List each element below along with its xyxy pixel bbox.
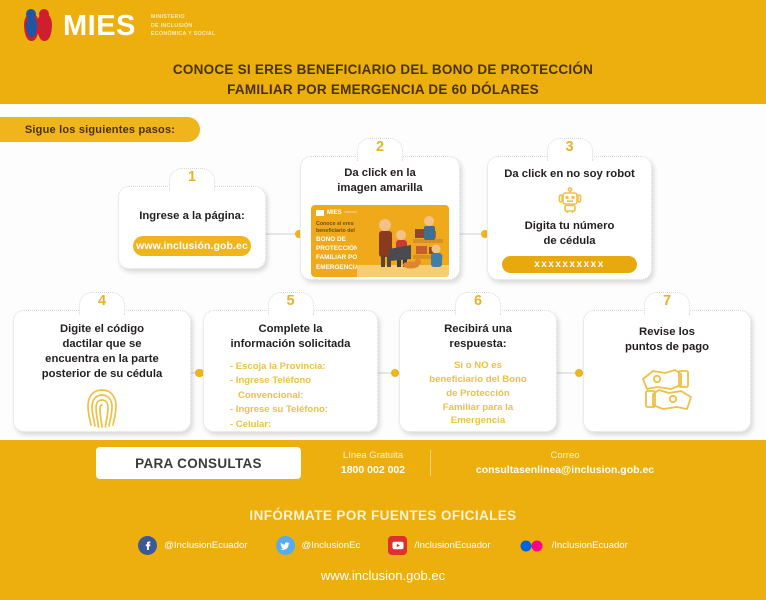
step-title-6: Recibirá una respuesta: (400, 322, 556, 352)
social-youtube-handle: /InclusionEcuador (414, 540, 490, 551)
step-title-5: Complete la información solicitada (204, 322, 377, 352)
consultas-divider (430, 450, 431, 476)
step-title-7: Revise los puntos de pago (584, 325, 750, 355)
step-number-tab-7: 7 (644, 292, 690, 315)
social-twitter-handle: @InclusionEc (302, 540, 361, 551)
step-1-url-pill[interactable]: www.inclusión.gob.ec (133, 236, 251, 256)
step-title-4-line-3: encuentra en la parte (14, 352, 190, 367)
page-title-line-1: CONOCE SI ERES BENEFICIARIO DEL BONO DE … (0, 60, 766, 80)
logo-subtitle-line-3: ECONÓMICA Y SOCIAL (151, 30, 216, 38)
family-illustration (357, 205, 449, 277)
step-card-6[interactable]: 6 Recibirá una respuesta: Si o NO es ben… (399, 310, 557, 432)
social-links: @InclusionEcuador @InclusionEc /Inclusio… (0, 536, 766, 555)
fingerprint-icon (85, 387, 119, 429)
step-title-5-line-1: Complete la (204, 322, 377, 337)
step-number-tab-3: 3 (547, 138, 593, 161)
step-card-3[interactable]: 3 Da click en no soy robot (487, 156, 652, 280)
social-flickr-handle: /InclusionEcuador (552, 540, 628, 551)
step-card-1[interactable]: 1 Ingrese a la página: www.inclusión.gob… (118, 186, 266, 269)
connector-6-7 (556, 372, 580, 374)
social-facebook[interactable]: @InclusionEcuador (138, 536, 247, 555)
connector-2-3 (456, 233, 486, 235)
step-5-bullet-3: Convencional: (230, 389, 377, 403)
step-title-3: Da click en no soy robot (488, 167, 651, 182)
youtube-icon (388, 536, 407, 555)
step-title-7-line-1: Revise los (584, 325, 750, 340)
thumbnail-brand: MIES (327, 210, 342, 216)
infographic-page: MIES MINISTERIO DE INCLUSIÓN ECONÓMICA Y… (0, 0, 766, 600)
step-number-tab-5: 5 (268, 292, 314, 315)
step-5-bullet-5: - Celular: (230, 418, 377, 432)
consultas-phone-label: Línea Gratuita (318, 449, 428, 463)
logo-subtitle-line-1: MINISTERIO (151, 13, 216, 21)
social-facebook-handle: @InclusionEcuador (164, 540, 247, 551)
step-title-2-line-2: imagen amarilla (301, 181, 459, 196)
consultas-email-value: consultasenlinea@inclusion.gob.ec (440, 463, 690, 479)
step-6-body-line-3: de Protección (400, 387, 556, 401)
page-title-line-2: FAMILIAR POR EMERGENCIA DE 60 DÓLARES (0, 80, 766, 100)
step-number-3: 3 (565, 140, 573, 155)
mies-logo: MIES MINISTERIO DE INCLUSIÓN ECONÓMICA Y… (24, 9, 216, 43)
social-flickr[interactable]: /InclusionEcuador (519, 536, 628, 555)
step-3-subtitle: Digita tu número de cédula (488, 219, 651, 249)
yellow-banner-thumbnail[interactable]: MIES MINISTERIO DE INCLUSIÓN ECONÓMICA Y… (311, 205, 449, 277)
consultas-email-label: Correo (440, 449, 690, 463)
step-5-bullets: - Escoja la Provincia: - Ingrese Teléfon… (204, 360, 377, 432)
step-6-body-line-4: Familiar para la (400, 401, 556, 415)
flickr-icon (519, 536, 545, 555)
cedula-input-pill[interactable]: xxxxxxxxxx (502, 256, 637, 273)
step-title-4-line-1: Digite el código (14, 322, 190, 337)
money-hands-icon (635, 363, 699, 415)
step-title-7-line-2: puntos de pago (584, 340, 750, 355)
step-number-4: 4 (98, 294, 106, 309)
step-title-1: Ingrese a la página: (119, 209, 265, 224)
step-title-5-line-2: información solicitada (204, 337, 377, 352)
step-title-4-line-4: posterior de su cédula (14, 367, 190, 382)
step-card-4[interactable]: 4 Digite el código dactilar que se encue… (13, 310, 191, 432)
footer-website[interactable]: www.inclusion.gob.ec (0, 568, 766, 583)
footer-title: INFÓRMATE POR FUENTES OFICIALES (0, 508, 766, 523)
step-card-5[interactable]: 5 Complete la información solicitada - E… (203, 310, 378, 432)
social-youtube[interactable]: /InclusionEcuador (388, 536, 490, 555)
step-number-tab-6: 6 (455, 292, 501, 315)
steps-banner: Sigue los siguientes pasos: (0, 117, 200, 142)
step-6-body-line-5: Emergencia (400, 414, 556, 428)
logo-subtitle-line-2: DE INCLUSIÓN (151, 22, 216, 30)
mies-logo-mark-icon (24, 9, 54, 43)
step-card-7[interactable]: 7 Revise los puntos de pago (583, 310, 751, 432)
step-number-5: 5 (286, 294, 294, 309)
step-title-4-line-2: dactilar que se (14, 337, 190, 352)
twitter-icon (276, 536, 295, 555)
step-number-tab-1: 1 (169, 168, 215, 191)
step-3-subtitle-line-1: Digita tu número (488, 219, 651, 234)
step-number-2: 2 (376, 140, 384, 155)
step-title-2-line-1: Da click en la (301, 166, 459, 181)
step-number-tab-2: 2 (357, 138, 403, 161)
social-twitter[interactable]: @InclusionEc (276, 536, 361, 555)
robot-icon (555, 186, 585, 214)
step-number-7: 7 (663, 294, 671, 309)
connector-1-2 (262, 233, 300, 235)
logo-wordmark: MIES (63, 12, 136, 41)
facebook-icon (138, 536, 157, 555)
step-3-subtitle-line-2: de cédula (488, 234, 651, 249)
step-number-tab-4: 4 (79, 292, 125, 315)
step-6-body: Si o NO es beneficiario del Bono de Prot… (400, 359, 556, 429)
step-number-1: 1 (188, 170, 196, 185)
step-title-2: Da click en la imagen amarilla (301, 166, 459, 196)
step-5-bullet-4: - Ingrese su Teléfono: (230, 403, 377, 417)
step-title-6-line-2: respuesta: (400, 337, 556, 352)
step-5-bullet-1: - Escoja la Provincia: (230, 360, 377, 374)
header: MIES MINISTERIO DE INCLUSIÓN ECONÓMICA Y… (0, 0, 766, 106)
step-6-body-line-1: Si o NO es (400, 359, 556, 373)
step-title-4: Digite el código dactilar que se encuent… (14, 322, 190, 382)
page-title: CONOCE SI ERES BENEFICIARIO DEL BONO DE … (0, 60, 766, 99)
consultas-phone: Línea Gratuita 1800 002 002 (318, 449, 428, 479)
consultas-email: Correo consultasenlinea@inclusion.gob.ec (440, 449, 690, 479)
consultas-phone-value: 1800 002 002 (318, 463, 428, 479)
step-5-bullet-2: - Ingrese Teléfono (230, 374, 377, 388)
step-6-body-line-2: beneficiario del Bono (400, 373, 556, 387)
consultas-label: PARA CONSULTAS (96, 447, 301, 479)
logo-subtitle: MINISTERIO DE INCLUSIÓN ECONÓMICA Y SOCI… (151, 13, 216, 38)
step-card-2[interactable]: 2 Da click en la imagen amarilla MIES MI… (300, 156, 460, 280)
step-title-6-line-1: Recibirá una (400, 322, 556, 337)
step-number-6: 6 (474, 294, 482, 309)
